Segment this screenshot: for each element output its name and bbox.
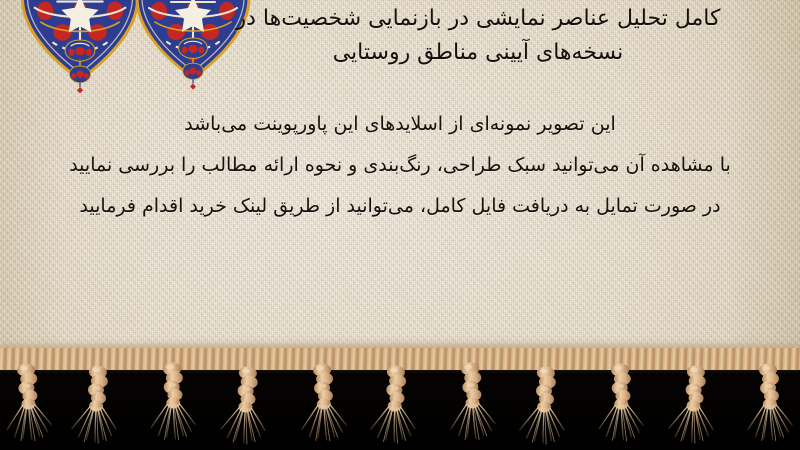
- slide-title-line-1: کامل تحلیل عناصر نمایشی در بازنمایی شخصی…: [178, 2, 778, 36]
- body-line-2: با مشاهده آن می‌توانید سبک طراحی، رنگ‌بن…: [0, 145, 800, 186]
- slide-title-line-2: نسخه‌های آیینی مناطق روستایی: [178, 36, 778, 70]
- slide-body-text: این تصویر نمونه‌ای از اسلایدهای این پاور…: [0, 104, 800, 227]
- slide-text-layer: کامل تحلیل عناصر نمایشی در بازنمایی شخصی…: [0, 0, 800, 450]
- body-line-1: این تصویر نمونه‌ای از اسلایدهای این پاور…: [0, 104, 800, 145]
- body-line-3: در صورت تمایل به دریافت فایل کامل، می‌تو…: [0, 186, 800, 227]
- slide-title: کامل تحلیل عناصر نمایشی در بازنمایی شخصی…: [178, 2, 778, 70]
- slide-canvas: کامل تحلیل عناصر نمایشی در بازنمایی شخصی…: [0, 0, 800, 450]
